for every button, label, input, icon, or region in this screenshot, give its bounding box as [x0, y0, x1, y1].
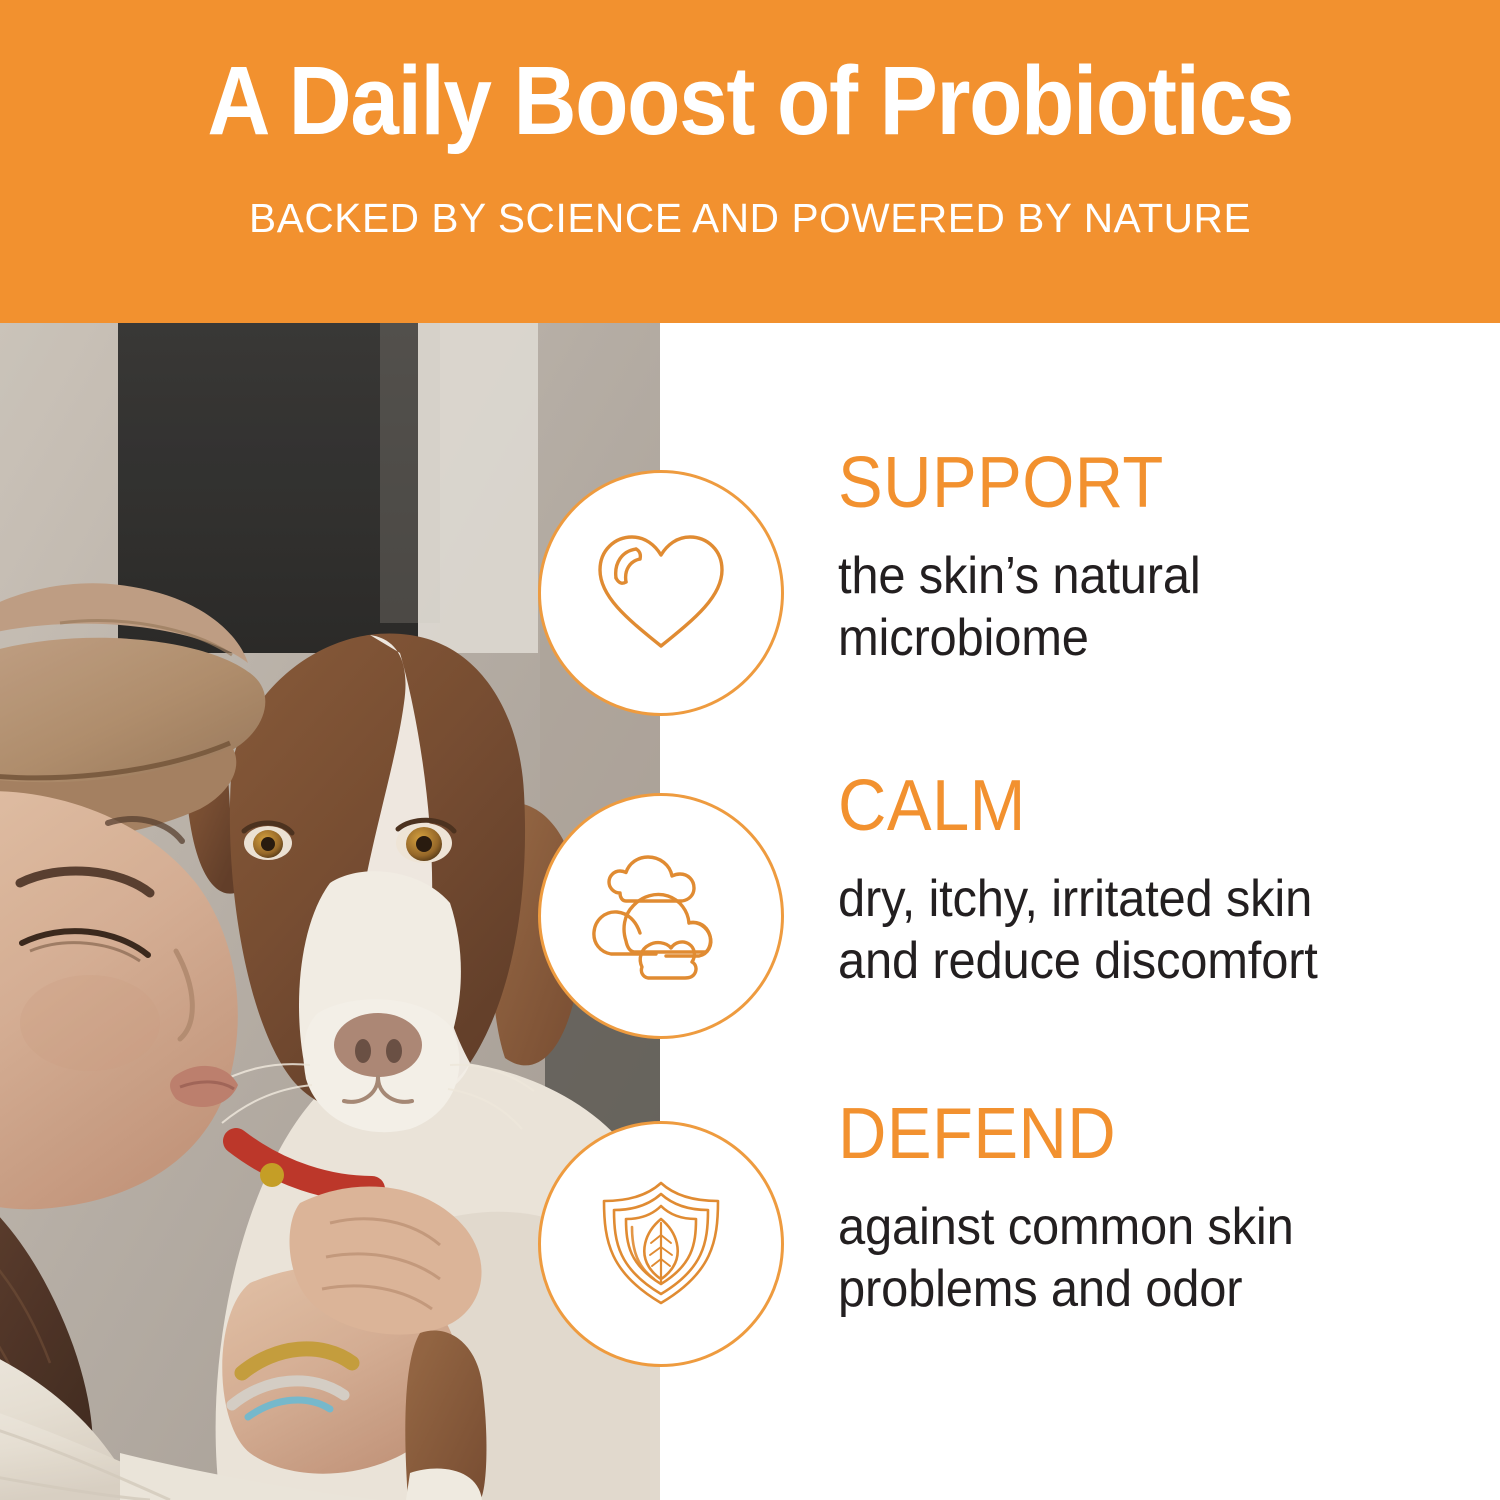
benefit-support-body: the skin’s natural microbiome	[838, 545, 1449, 670]
heart-icon-glyph	[586, 518, 736, 668]
benefits-panel: SUPPORT the skin’s natural microbiome	[660, 323, 1500, 1500]
shield-leaf-icon	[538, 1121, 784, 1367]
clouds-icon	[538, 793, 784, 1039]
benefit-calm-text: CALM dry, itchy, irritated skin and redu…	[838, 770, 1488, 993]
benefit-support-body-line-2: microbiome	[838, 607, 1449, 669]
heart-icon	[538, 470, 784, 716]
benefit-calm-body-line-2: and reduce discomfort	[838, 930, 1449, 992]
benefit-defend: DEFEND against common skin problems and …	[660, 1098, 1500, 1398]
benefit-support-body-line-1: the skin’s natural	[838, 545, 1449, 607]
benefit-support: SUPPORT the skin’s natural microbiome	[660, 447, 1500, 747]
marketing-infographic: A Daily Boost of Probiotics BACKED BY SC…	[0, 0, 1500, 1500]
benefit-defend-body-line-1: against common skin	[838, 1196, 1449, 1258]
benefit-calm-body-line-1: dry, itchy, irritated skin	[838, 868, 1449, 930]
page-subtitle: BACKED BY SCIENCE AND POWERED BY NATURE	[249, 195, 1251, 242]
benefit-support-heading: SUPPORT	[838, 447, 1443, 519]
benefit-calm-heading: CALM	[838, 770, 1443, 842]
header-banner: A Daily Boost of Probiotics BACKED BY SC…	[0, 0, 1500, 323]
benefit-defend-heading: DEFEND	[838, 1098, 1443, 1170]
benefit-calm-body: dry, itchy, irritated skin and reduce di…	[838, 868, 1449, 993]
benefit-calm: CALM dry, itchy, irritated skin and redu…	[660, 770, 1500, 1070]
shield-leaf-icon-glyph	[586, 1169, 736, 1319]
benefit-defend-text: DEFEND against common skin problems and …	[838, 1098, 1488, 1321]
page-title: A Daily Boost of Probiotics	[207, 52, 1293, 149]
benefit-defend-body: against common skin problems and odor	[838, 1196, 1449, 1321]
benefit-defend-body-line-2: problems and odor	[838, 1258, 1449, 1320]
clouds-icon-glyph	[586, 841, 736, 991]
benefit-support-text: SUPPORT the skin’s natural microbiome	[838, 447, 1488, 670]
